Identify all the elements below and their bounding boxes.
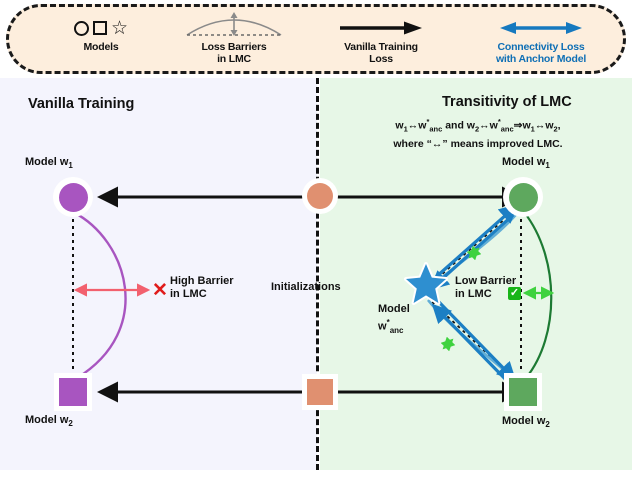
low-barrier-check-icon: ✓ xyxy=(508,287,521,300)
label-initializations: Initializations xyxy=(271,281,341,294)
f-a: w xyxy=(395,120,403,132)
legend-connectivity-glyph xyxy=(461,15,621,41)
f-e: ⇒w xyxy=(514,120,531,132)
right-w1-dot xyxy=(509,183,538,212)
label-right-w2-sub: 2 xyxy=(545,420,549,429)
node-init-circle xyxy=(302,178,338,214)
f-sub2: anc xyxy=(429,125,442,134)
f-f: ↔w xyxy=(535,120,554,132)
node-init-square xyxy=(302,374,338,410)
black-arrow-right-icon xyxy=(338,20,424,36)
node-left-model-w2 xyxy=(54,373,92,411)
label-anchor-w: w xyxy=(378,321,387,333)
legend-models-label: Models xyxy=(41,41,161,53)
transitivity-formula-line1: w1↔w*anc and w2↔w*anc⇒w1↔w2, xyxy=(330,115,626,137)
right-w2-square xyxy=(509,378,537,406)
init-square-shape xyxy=(307,379,333,405)
label-high-barrier-line2: in LMC xyxy=(170,288,234,301)
circle-outline-icon xyxy=(74,21,89,36)
legend-connectivity-label-line2: with Anchor Model xyxy=(461,53,621,65)
label-low-barrier-line2: in LMC xyxy=(455,288,516,301)
label-low-barrier-line1: Low Barrier xyxy=(455,275,516,288)
label-left-w1-sub: 1 xyxy=(68,161,72,170)
label-anchor-model: Model w*anc xyxy=(378,303,410,337)
label-right-model-w1: Model w1 xyxy=(502,156,550,172)
panel-vanilla-training xyxy=(0,78,317,470)
node-anchor-star xyxy=(404,262,448,306)
label-right-w1-text: Model w xyxy=(502,156,545,168)
node-left-model-w1 xyxy=(53,177,93,217)
label-high-barrier-line1: High Barrier xyxy=(170,275,234,288)
f-g: , xyxy=(558,120,561,132)
transitivity-formula: w1↔w*anc and w2↔w*anc⇒w1↔w2, where “↔” m… xyxy=(330,115,626,151)
legend-connectivity-label-line1: Connectivity Loss xyxy=(461,41,621,53)
label-left-w2-text: Model w xyxy=(25,414,68,426)
figure-canvas: ☆ Models Loss Barriers in LMC xyxy=(0,0,632,494)
page-title-left: Vanilla Training xyxy=(28,96,134,112)
transitivity-formula-line2: where “↔” means improved LMC. xyxy=(330,137,626,151)
legend-vanilla-label-line1: Vanilla Training xyxy=(311,41,451,53)
legend-vanilla-glyph xyxy=(311,15,451,41)
legend-loss-barriers-label-line2: in LMC xyxy=(169,53,299,65)
left-w1-dot xyxy=(59,183,88,212)
label-left-model-w1: Model w1 xyxy=(25,156,73,172)
page-title-right: Transitivity of LMC xyxy=(442,94,572,110)
label-left-model-w2: Model w2 xyxy=(25,414,73,430)
legend-loss-barriers-label-line1: Loss Barriers xyxy=(169,41,299,53)
legend-panel: ☆ Models Loss Barriers in LMC xyxy=(6,4,626,74)
label-low-barrier: Low Barrier in LMC xyxy=(455,275,516,301)
label-right-model-w2: Model w2 xyxy=(502,415,550,431)
legend-item-vanilla-training: Vanilla Training Loss xyxy=(311,15,451,65)
anchor-star-icon xyxy=(404,262,448,306)
legend-models-glyphs: ☆ xyxy=(41,15,161,41)
legend-item-models: ☆ Models xyxy=(41,15,161,53)
legend-item-connectivity-loss: Connectivity Loss with Anchor Model xyxy=(461,15,621,65)
legend-item-loss-barriers: Loss Barriers in LMC xyxy=(169,11,299,65)
square-outline-icon xyxy=(93,21,107,35)
arc-with-barrier-arrow-icon xyxy=(179,11,289,41)
legend-loss-barriers-glyph xyxy=(169,11,299,41)
node-right-model-w2 xyxy=(504,373,542,411)
label-high-barrier: High Barrier in LMC xyxy=(170,275,234,301)
init-circle-dot xyxy=(307,183,333,209)
f-b: ↔w xyxy=(408,120,427,132)
label-left-w2-sub: 2 xyxy=(68,419,72,428)
label-anchor-sub: anc xyxy=(390,326,404,335)
legend-vanilla-label-line2: Loss xyxy=(311,53,451,65)
label-anchor-line1: Model xyxy=(378,303,410,316)
blue-double-arrow-icon xyxy=(498,20,584,36)
label-right-w1-sub: 1 xyxy=(545,161,549,170)
f-d: ↔w xyxy=(479,120,498,132)
label-anchor-line2: w*anc xyxy=(378,316,410,337)
node-right-model-w1 xyxy=(503,177,543,217)
label-right-w2-text: Model w xyxy=(502,415,545,427)
f-c: and w xyxy=(442,120,475,132)
f-sub4: anc xyxy=(501,125,514,134)
star-outline-icon: ☆ xyxy=(111,19,128,38)
panel-divider xyxy=(316,78,319,470)
high-barrier-x-icon: ✕ xyxy=(152,281,168,300)
left-w2-square xyxy=(59,378,87,406)
label-left-w1-text: Model w xyxy=(25,156,68,168)
